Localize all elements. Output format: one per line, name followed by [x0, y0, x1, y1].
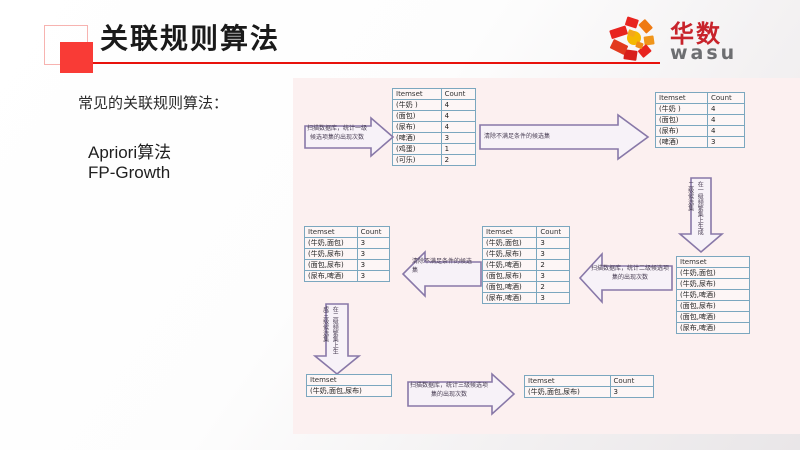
cell-itemset: (可乐): [393, 155, 442, 166]
logo-text-en: wasu: [670, 42, 737, 64]
table-row: (面包,尿布): [677, 301, 750, 312]
table-row: (啤酒)3: [393, 133, 476, 144]
arrow-label-prune-level1: 清除不满足条件的候选集: [484, 132, 616, 141]
arrow-label-scan-level1: 扫描数据库，统计一级候选项集的出现次数: [306, 124, 368, 142]
page-title: 关联规则算法: [100, 17, 280, 57]
cell-itemset: (牛奶,面包): [677, 268, 750, 279]
table-row: (尿布,啤酒)3: [305, 271, 390, 282]
header-solid-square-decoration: [60, 42, 93, 73]
cell-itemset: (牛奶,面包): [305, 238, 358, 249]
cell-itemset: (面包,尿布): [305, 260, 358, 271]
cell-itemset: (面包,啤酒): [483, 282, 537, 293]
table-row: (牛奶,面包,尿布)3: [525, 387, 654, 398]
table-level1-frequent: Itemset Count (牛奶 )4 (面包)4 (尿布)4 (啤酒)3: [655, 92, 745, 148]
lead-text: 常见的关联规则算法：: [78, 92, 228, 113]
table-row: (牛奶,尿布)3: [483, 249, 570, 260]
table-level3-candidates: Itemset (牛奶,面包,尿布): [306, 374, 392, 397]
table-row: (面包,啤酒)2: [483, 282, 570, 293]
cell-itemset: (牛奶,啤酒): [677, 290, 750, 301]
cell-itemset: (尿布,啤酒): [305, 271, 358, 282]
table-row: (牛奶,面包)3: [305, 238, 390, 249]
col-count: Count: [708, 93, 745, 104]
cell-count: 3: [537, 271, 570, 282]
table-header-row: Itemset: [677, 257, 750, 268]
table-header-row: Itemset Count: [525, 376, 654, 387]
cell-count: 3: [357, 238, 389, 249]
cell-count: 3: [357, 249, 389, 260]
cell-count: 4: [708, 126, 745, 137]
table-row: (尿布)4: [656, 126, 745, 137]
table-row: (牛奶 )4: [393, 100, 476, 111]
cell-itemset: (啤酒): [393, 133, 442, 144]
arrow-label-generate-level2: 在一级频繁集上生成二级候选集: [685, 181, 704, 235]
cell-count: 4: [708, 104, 745, 115]
cell-count: 4: [441, 122, 475, 133]
table-row: (尿布,啤酒)3: [483, 293, 570, 304]
table-row: (牛奶,面包,尿布): [307, 386, 392, 397]
table-level3-counted: Itemset Count (牛奶,面包,尿布)3: [524, 375, 654, 398]
cell-itemset: (尿布): [656, 126, 708, 137]
table-row: (牛奶,尿布)3: [305, 249, 390, 260]
col-count: Count: [537, 227, 570, 238]
cell-count: 3: [357, 271, 389, 282]
table-level1-candidates: Itemset Count (牛奶 )4 (面包)4 (尿布)4 (啤酒)3 (…: [392, 88, 476, 166]
table-row: (牛奶,面包)3: [483, 238, 570, 249]
col-itemset: Itemset: [525, 376, 611, 387]
table-header-row: Itemset: [307, 375, 392, 386]
table-row: (牛奶,啤酒): [677, 290, 750, 301]
table-row: (面包,尿布)3: [305, 260, 390, 271]
wasu-sun-icon: [606, 12, 662, 68]
col-count: Count: [357, 227, 389, 238]
cell-itemset: (牛奶 ): [393, 100, 442, 111]
arrow-label-generate-level3: 在二级频繁集上生成三级候选集: [320, 306, 339, 356]
cell-itemset: (牛奶,尿布): [305, 249, 358, 260]
table-header-row: Itemset Count: [483, 227, 570, 238]
cell-count: 4: [708, 115, 745, 126]
cell-itemset: (啤酒): [656, 137, 708, 148]
table-level2-counted: Itemset Count (牛奶,面包)3 (牛奶,尿布)3 (牛奶,啤酒)2…: [482, 226, 570, 304]
col-itemset: Itemset: [483, 227, 537, 238]
col-count: Count: [441, 89, 475, 100]
cell-count: 3: [441, 133, 475, 144]
cell-count: 3: [537, 249, 570, 260]
table-row: (面包)4: [393, 111, 476, 122]
table-row: (面包,尿布)3: [483, 271, 570, 282]
table-row: (牛奶,啤酒)2: [483, 260, 570, 271]
cell-itemset: (牛奶,面包,尿布): [525, 387, 611, 398]
cell-count: 2: [537, 260, 570, 271]
cell-count: 1: [441, 144, 475, 155]
arrow-label-scan-level2: 扫描数据库，统计二级候选项集的出现次数: [591, 264, 669, 282]
table-row: (面包)4: [656, 115, 745, 126]
cell-count: 3: [357, 260, 389, 271]
table-row: (可乐)2: [393, 155, 476, 166]
cell-count: 3: [610, 387, 653, 398]
cell-count: 4: [441, 100, 475, 111]
cell-itemset: (面包,啤酒): [677, 312, 750, 323]
table-header-row: Itemset Count: [393, 89, 476, 100]
table-row: (鸡蛋)1: [393, 144, 476, 155]
table-row: (啤酒)3: [656, 137, 745, 148]
cell-itemset: (牛奶 ): [656, 104, 708, 115]
col-itemset: Itemset: [393, 89, 442, 100]
arrow-label-scan-level3: 扫描数据库，统计三级候选项集的出现次数: [410, 381, 488, 399]
cell-count: 3: [708, 137, 745, 148]
cell-itemset: (尿布,啤酒): [677, 323, 750, 334]
cell-count: 2: [537, 282, 570, 293]
col-itemset: Itemset: [656, 93, 708, 104]
brand-logo: 华数 wasu: [606, 8, 786, 70]
table-row: (尿布,啤酒): [677, 323, 750, 334]
cell-count: 4: [441, 111, 475, 122]
col-count: Count: [610, 376, 653, 387]
table-row: (尿布)4: [393, 122, 476, 133]
table-row: (牛奶 )4: [656, 104, 745, 115]
cell-itemset: (面包): [393, 111, 442, 122]
col-itemset: Itemset: [677, 257, 750, 268]
cell-itemset: (面包): [656, 115, 708, 126]
algorithm-item-apriori: Apriori算法: [88, 138, 171, 163]
cell-count: 3: [537, 293, 570, 304]
table-row: (牛奶,尿布): [677, 279, 750, 290]
col-itemset: Itemset: [307, 375, 392, 386]
cell-count: 3: [537, 238, 570, 249]
cell-itemset: (牛奶,啤酒): [483, 260, 537, 271]
cell-itemset: (牛奶,面包,尿布): [307, 386, 392, 397]
slide: 关联规则算法 华数 wasu 常见的关联规则算法： Apriori算法 FP-G…: [0, 0, 800, 450]
cell-itemset: (面包,尿布): [677, 301, 750, 312]
cell-itemset: (尿布,啤酒): [483, 293, 537, 304]
cell-itemset: (牛奶,尿布): [483, 249, 537, 260]
table-level2-frequent: Itemset Count (牛奶,面包)3 (牛奶,尿布)3 (面包,尿布)3…: [304, 226, 390, 282]
table-header-row: Itemset Count: [305, 227, 390, 238]
cell-itemset: (鸡蛋): [393, 144, 442, 155]
cell-itemset: (牛奶,面包): [483, 238, 537, 249]
arrow-label-prune-level2: 清除不满足条件的候选集: [412, 257, 476, 275]
table-row: (面包,啤酒): [677, 312, 750, 323]
cell-count: 2: [441, 155, 475, 166]
algorithm-item-fpgrowth: FP-Growth: [88, 163, 170, 183]
col-itemset: Itemset: [305, 227, 358, 238]
table-header-row: Itemset Count: [656, 93, 745, 104]
header-underline-rule: [60, 62, 660, 64]
table-level2-candidates: Itemset (牛奶,面包) (牛奶,尿布) (牛奶,啤酒) (面包,尿布) …: [676, 256, 750, 334]
cell-itemset: (尿布): [393, 122, 442, 133]
cell-itemset: (面包,尿布): [483, 271, 537, 282]
table-row: (牛奶,面包): [677, 268, 750, 279]
cell-itemset: (牛奶,尿布): [677, 279, 750, 290]
